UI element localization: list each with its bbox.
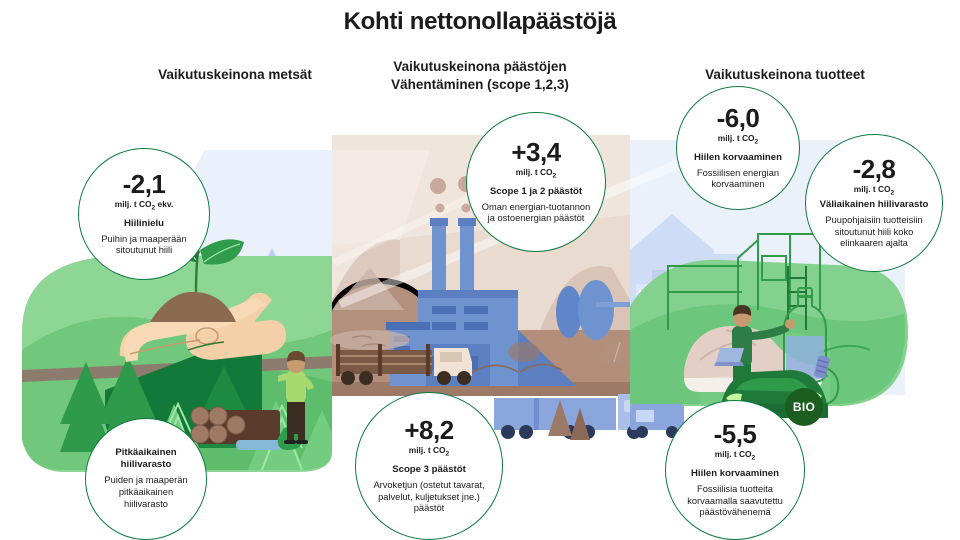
page-title: Kohti nettonollapäästöjä	[0, 8, 960, 36]
bubble-temporary-carbon-store[interactable]: -2,8 milj. t CO2 Väliaikainen hiilivaras…	[805, 134, 943, 272]
bubble-description: Fossiilisen energian korvaaminen	[687, 168, 789, 192]
bubble-label: Väliaikainen hiilivarasto	[820, 199, 929, 211]
bubble-label: Hiilinielu	[124, 218, 164, 230]
infographic-canvas: Kohti nettonollapäästöjä Vaikutuskeinona…	[0, 0, 960, 540]
bubble-value: -2,1	[123, 171, 166, 197]
bubble-value: +3,4	[511, 139, 560, 165]
unit-prefix: milj. t CO	[854, 184, 891, 194]
unit-subscript: 2	[446, 450, 450, 457]
bubble-unit: milj. t CO2	[854, 184, 894, 198]
bubble-coal-replacement-energy[interactable]: -6,0 milj. t CO2 Hiilen korvaaminen Foss…	[676, 86, 800, 210]
bubble-value: -6,0	[717, 105, 760, 131]
bubble-carbon-sink[interactable]: -2,1 milj. t CO2 ekv. Hiilinielu Puihin …	[78, 148, 210, 280]
bubble-description: Oman energian-tuotannon ja ostoenergian …	[477, 202, 595, 226]
unit-prefix: milj. t CO	[718, 133, 755, 143]
unit-prefix: milj. t CO	[409, 445, 446, 455]
bubble-value: -5,5	[714, 421, 757, 447]
bubble-coal-replacement-products[interactable]: -5,5 milj. t CO2 Hiilen korvaaminen Foss…	[665, 400, 805, 540]
unit-prefix: milj. t CO	[115, 199, 152, 209]
bio-badge: BIO	[785, 388, 823, 426]
bubble-scope-3[interactable]: +8,2 milj. t CO2 Scope 3 päästöt Arvoket…	[355, 392, 503, 540]
unit-subscript: 2	[891, 189, 895, 196]
bubble-long-term-carbon-store[interactable]: Pitkäaikainen hiilivarasto Puiden ja maa…	[85, 418, 207, 540]
bubble-description: Fossiilisia tuotteita korvaamalla saavut…	[676, 484, 794, 520]
unit-subscript: 2	[755, 138, 759, 145]
bubble-label: Pitkäaikainen hiilivarasto	[96, 447, 196, 471]
bubble-value: -2,8	[853, 156, 896, 182]
bubble-description: Puupohjaisiin tuotteisiin sitoutunut hii…	[816, 215, 932, 251]
bubble-label: Scope 3 päästöt	[392, 464, 466, 476]
bubble-unit: milj. t CO2	[409, 445, 449, 459]
unit-suffix: ekv.	[155, 199, 173, 209]
bubble-label: Hiilen korvaaminen	[694, 152, 782, 164]
bubble-label: Scope 1 ja 2 päästöt	[490, 186, 582, 198]
unit-prefix: milj. t CO	[516, 167, 553, 177]
unit-subscript: 2	[752, 454, 756, 461]
bubble-label: Hiilen korvaaminen	[691, 468, 779, 480]
unit-subscript: 2	[553, 172, 557, 179]
bubble-description: Arvoketjun (ostetut tavarat, palvelut, k…	[366, 480, 492, 516]
bubble-unit: milj. t CO2 ekv.	[115, 199, 173, 213]
unit-prefix: milj. t CO	[715, 449, 752, 459]
bubble-value: +8,2	[404, 417, 453, 443]
bubble-scope-1-2[interactable]: +3,4 milj. t CO2 Scope 1 ja 2 päästöt Om…	[466, 112, 606, 252]
bubble-unit: milj. t CO2	[718, 133, 758, 147]
bubble-unit: milj. t CO2	[516, 167, 556, 181]
section-heading-products: Vaikutuskeinona tuotteet	[660, 66, 910, 84]
section-heading-emissions-line1: Vaikutuskeinona päästöjen Vähentäminen (…	[391, 59, 569, 92]
section-heading-emissions: Vaikutuskeinona päästöjen Vähentäminen (…	[355, 58, 605, 94]
bubble-description: Puihin ja maaperään sitoutunut hiili	[89, 234, 199, 258]
bubble-unit: milj. t CO2	[715, 449, 755, 463]
bubble-description: Puiden ja maaperän pitkäaikainen hiiliva…	[96, 475, 196, 511]
